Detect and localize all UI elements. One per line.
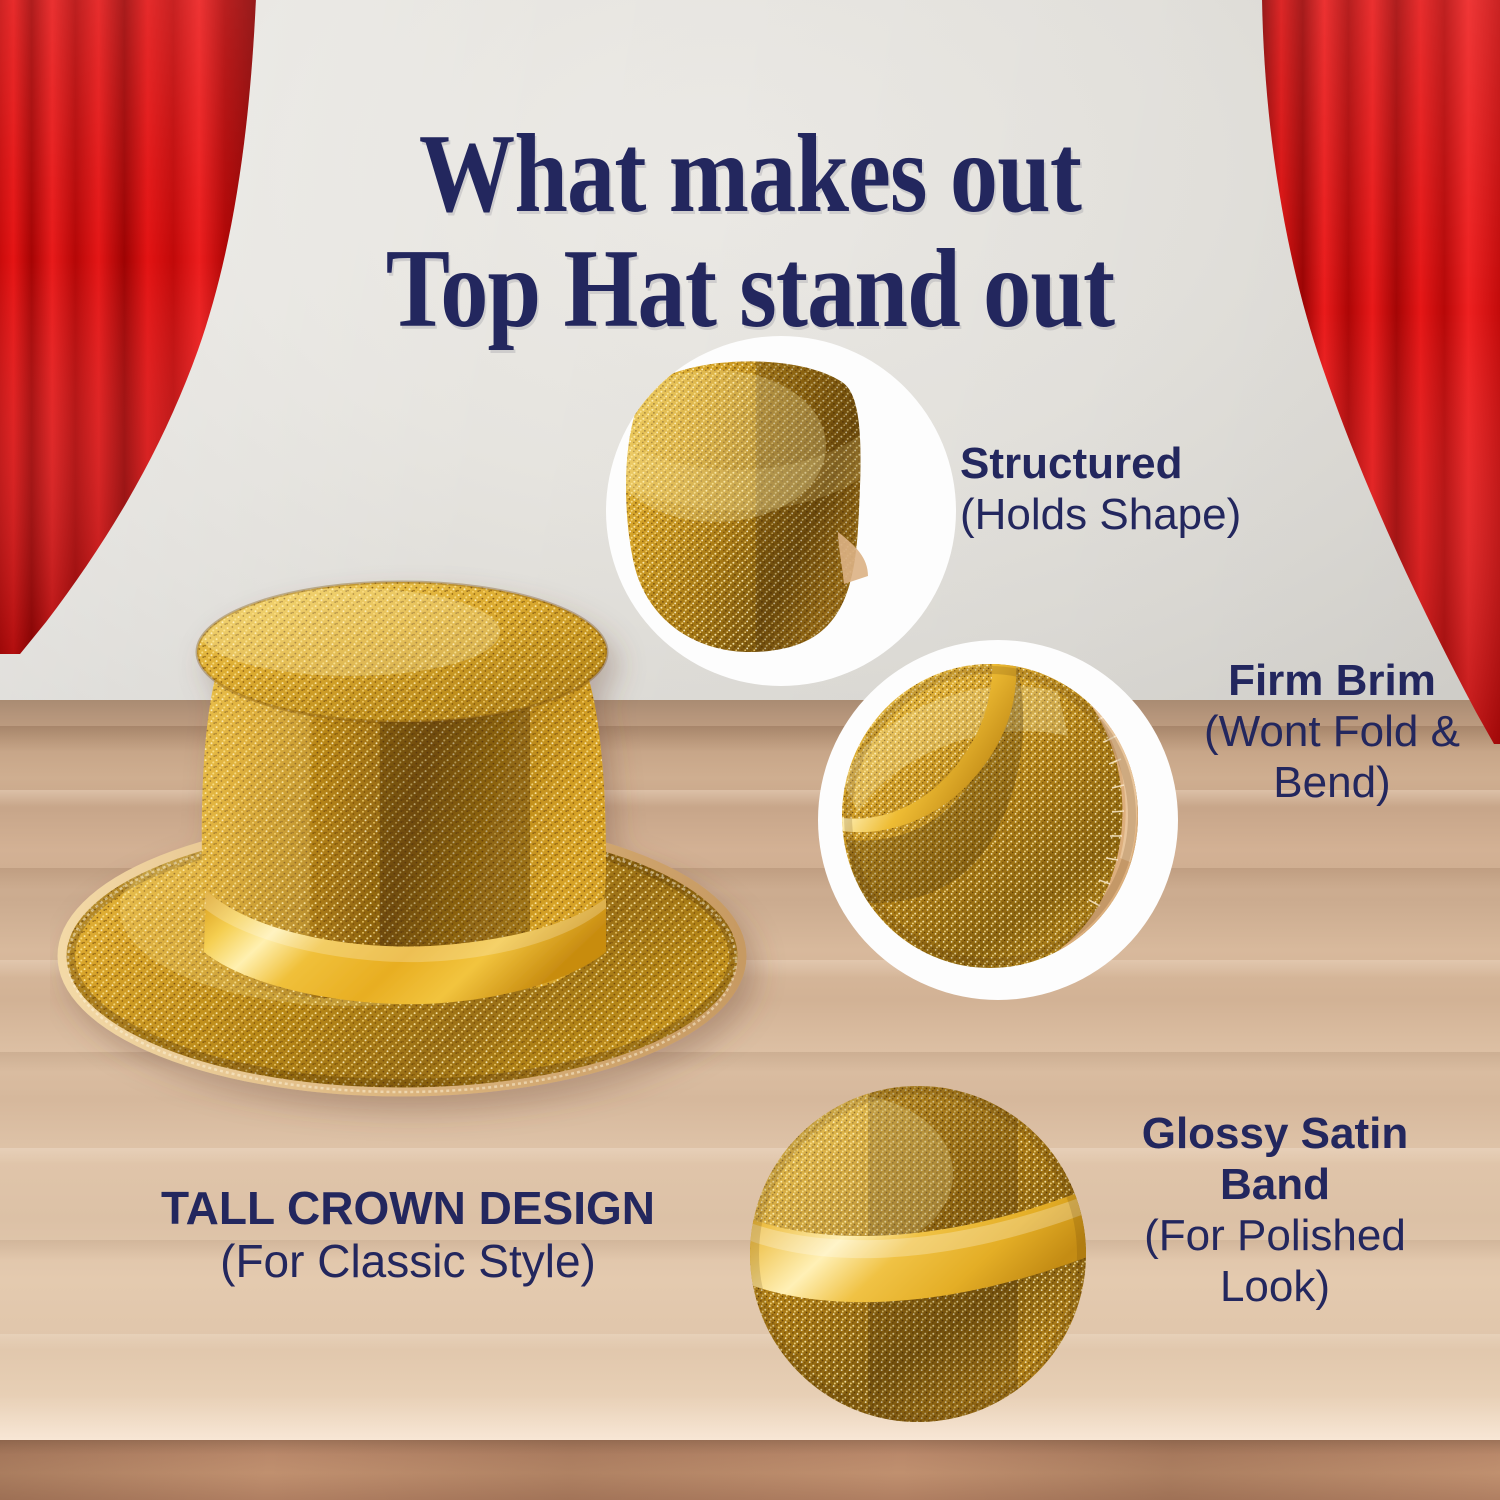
feature-heading: Structured xyxy=(960,438,1390,489)
feature-heading: Glossy Satin Band xyxy=(1090,1108,1460,1210)
feature-subtext: (Wont Fold & Bend) xyxy=(1182,706,1482,808)
feature-label-tall-crown-design: TALL CROWN DESIGN (For Classic Style) xyxy=(108,1182,708,1289)
infographic-canvas: What makes out Top Hat stand out xyxy=(0,0,1500,1500)
brim-edge-closeup-circle-icon xyxy=(818,640,1178,1000)
page-title: What makes out Top Hat stand out xyxy=(105,117,1395,348)
feature-label-glossy-satin-band: Glossy Satin Band (For Polished Look) xyxy=(1090,1108,1460,1312)
satin-band-closeup-circle-icon xyxy=(748,1084,1088,1424)
feature-heading: TALL CROWN DESIGN xyxy=(108,1182,708,1235)
feature-subtext: (For Classic Style) xyxy=(108,1235,708,1288)
title-line-2: Top Hat stand out xyxy=(105,232,1395,347)
crown-top-closeup-circle-icon xyxy=(606,336,956,686)
title-line-1: What makes out xyxy=(419,112,1081,236)
feature-subtext: (Holds Shape) xyxy=(960,489,1390,540)
feature-label-firm-brim: Firm Brim (Wont Fold & Bend) xyxy=(1182,655,1482,808)
feature-label-structured: Structured (Holds Shape) xyxy=(960,438,1390,540)
table-front-edge-grain xyxy=(0,1440,1500,1500)
feature-subtext: (For Polished Look) xyxy=(1090,1210,1460,1312)
feature-heading: Firm Brim xyxy=(1182,655,1482,706)
